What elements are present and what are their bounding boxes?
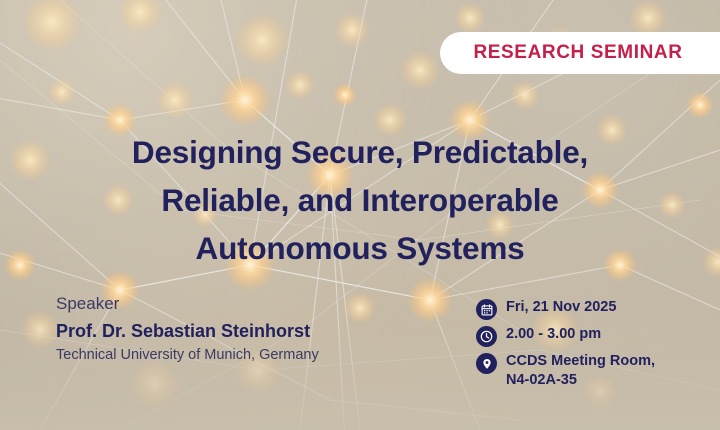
location-pin-icon — [476, 353, 497, 374]
speaker-block: Speaker Prof. Dr. Sebastian Steinhorst T… — [56, 291, 319, 366]
research-seminar-badge: RESEARCH SEMINAR — [440, 32, 720, 74]
seminar-title: Designing Secure, Predictable, Reliable,… — [0, 128, 720, 272]
speaker-name: Prof. Dr. Sebastian Steinhorst — [56, 318, 319, 344]
badge-label: RESEARCH SEMINAR — [473, 42, 682, 64]
title-line-2: Reliable, and Interoperable — [36, 176, 684, 224]
detail-time-text: 2.00 - 3.00 pm — [506, 325, 601, 344]
calendar-icon — [476, 299, 497, 320]
detail-row-time: 2.00 - 3.00 pm — [476, 325, 655, 347]
detail-location-text: CCDS Meeting Room, N4-02A-35 — [506, 352, 655, 390]
detail-date-text: Fri, 21 Nov 2025 — [506, 298, 616, 317]
seminar-poster: RESEARCH SEMINAR Designing Secure, Predi… — [0, 0, 720, 430]
detail-row-location: CCDS Meeting Room, N4-02A-35 — [476, 352, 655, 390]
speaker-affiliation: Technical University of Munich, Germany — [56, 345, 319, 366]
speaker-label: Speaker — [56, 291, 319, 316]
title-line-3: Autonomous Systems — [36, 224, 684, 272]
clock-icon — [476, 326, 497, 347]
title-line-1: Designing Secure, Predictable, — [36, 128, 684, 176]
event-details: Fri, 21 Nov 2025 2.00 - 3.00 pm CCDS Mee… — [476, 298, 655, 395]
detail-row-date: Fri, 21 Nov 2025 — [476, 298, 655, 320]
